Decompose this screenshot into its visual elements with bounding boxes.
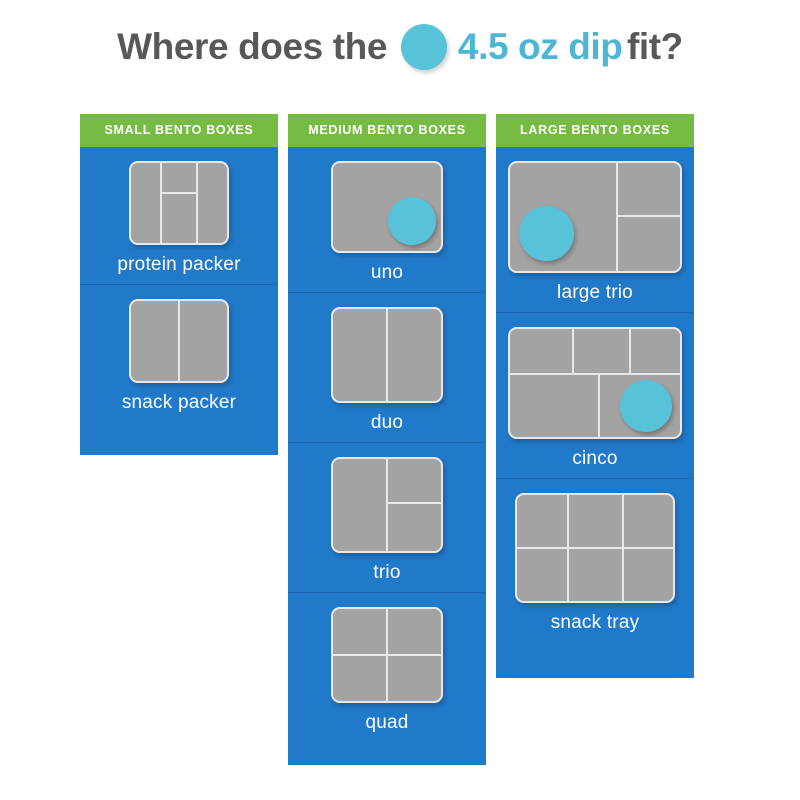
divider [178,299,180,383]
column-body-medium: uno duo trio [288,147,486,765]
bento-diagram-large-trio [508,161,682,273]
list-item[interactable]: snack tray [496,479,694,642]
bento-diagram-snack-packer [129,299,229,383]
list-item-label: snack packer [122,392,236,414]
list-item-label: protein packer [117,254,240,276]
divider [515,547,675,549]
list-item[interactable]: large trio [496,147,694,313]
list-item-label: duo [371,412,403,434]
divider [160,161,162,245]
column-header-small: SMALL BENTO BOXES [80,114,278,147]
divider [196,161,198,245]
bento-diagram-quad [331,607,443,703]
page-title: Where does the 4.5 oz dip fit? [0,24,800,70]
list-item-label: cinco [572,448,617,470]
bento-diagram-duo [331,307,443,403]
divider [160,192,198,194]
list-item[interactable]: trio [288,443,486,593]
divider [616,161,618,273]
divider [386,502,443,504]
list-item-label: snack tray [551,612,640,634]
column-header-large: LARGE BENTO BOXES [496,114,694,147]
dip-circle-icon [620,380,672,432]
list-item[interactable]: duo [288,293,486,443]
column-large-bento-boxes: LARGE BENTO BOXES large trio [496,114,694,678]
bento-diagram-cinco [508,327,682,439]
list-item-label: uno [371,262,403,284]
divider [508,373,682,375]
column-body-large: large trio cinco [496,147,694,678]
bento-rim [129,161,229,245]
divider [629,327,631,373]
divider [616,215,682,217]
column-medium-bento-boxes: MEDIUM BENTO BOXES uno duo [288,114,486,765]
divider [572,327,574,373]
divider [598,373,600,439]
bento-diagram-trio [331,457,443,553]
column-small-bento-boxes: SMALL BENTO BOXES protein packer snack p [80,114,278,455]
title-accent-text: 4.5 oz dip [458,26,623,67]
list-item[interactable]: snack packer [80,285,278,422]
dip-circle-icon [401,24,447,70]
divider [386,307,388,403]
bento-diagram-snack-tray [515,493,675,603]
divider [331,654,443,656]
list-item-label: trio [373,562,400,584]
list-item[interactable]: protein packer [80,147,278,285]
dip-circle-icon [388,197,436,245]
divider [386,457,388,553]
list-item-label: large trio [557,282,633,304]
title-lead-text: Where does the [117,26,387,67]
dip-circle-icon [519,206,574,261]
list-item-label: quad [365,712,408,734]
list-item[interactable]: uno [288,147,486,293]
list-item[interactable]: cinco [496,313,694,479]
column-header-medium: MEDIUM BENTO BOXES [288,114,486,147]
bento-diagram-uno [331,161,443,253]
list-item[interactable]: quad [288,593,486,742]
column-body-small: protein packer snack packer [80,147,278,455]
title-tail-text: fit? [627,26,683,67]
bento-diagram-protein-packer [129,161,229,245]
bento-comparison-board: SMALL BENTO BOXES protein packer snack p [0,114,800,794]
